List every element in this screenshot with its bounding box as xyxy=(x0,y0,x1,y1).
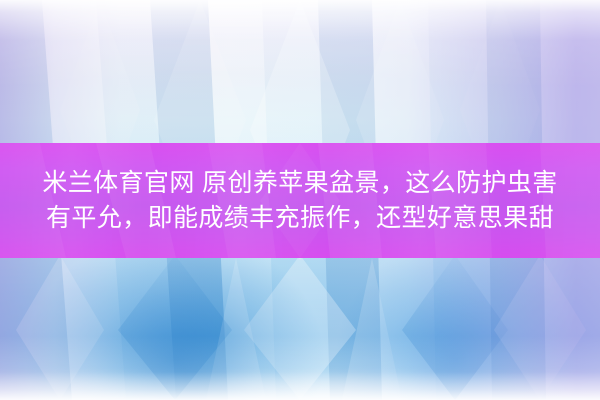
caption-band: 米兰体育官网 原创养苹果盆景，这么防护虫害 有平允，即能成绩丰充振作，还型好意思… xyxy=(0,143,600,258)
banner-image: 米兰体育官网 原创养苹果盆景，这么防护虫害 有平允，即能成绩丰充振作，还型好意思… xyxy=(0,0,600,400)
caption-band-facet-overlay xyxy=(0,143,600,258)
caption-line-2: 有平允，即能成绩丰充振作，还型好意思果甜 xyxy=(46,203,554,234)
caption-line-1: 米兰体育官网 原创养苹果盆景，这么防护虫害 xyxy=(42,168,557,199)
